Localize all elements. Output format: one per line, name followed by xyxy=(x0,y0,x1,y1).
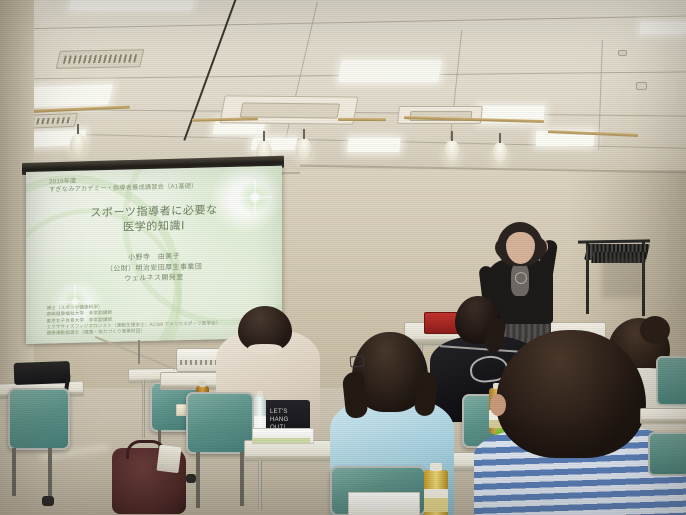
chair-empty-left xyxy=(8,388,70,450)
pendant-spot-lamp xyxy=(444,140,460,162)
slide-title: スポーツ指導者に必要な 医学的知識Ⅰ xyxy=(26,202,282,238)
slide-header: 2019年度 すぎなみアカデミー・指導者養成講習会（A1基礎） xyxy=(49,175,198,195)
coat-rack-shadow xyxy=(602,258,644,298)
smoke-detector-icon xyxy=(636,82,647,90)
chair-back-right xyxy=(656,356,686,406)
ceiling-air-vent xyxy=(56,49,145,68)
seminar-room-photo: 2019年度 すぎなみアカデミー・指導者養成講習会（A1基礎） スポーツ指導者に… xyxy=(0,0,686,515)
bag-paper xyxy=(156,445,181,473)
chair-leg xyxy=(48,448,52,500)
ceiling-light-panel xyxy=(69,0,197,10)
attendee-striped-ear xyxy=(490,394,506,416)
table-leg xyxy=(258,460,262,510)
slide-presenter-block: 小野寺 由美子 （公財）明治安田厚生事業団 ウェルネス開発室 xyxy=(26,250,282,288)
pendant-spot-lamp xyxy=(296,138,312,160)
desk-right-edge xyxy=(640,408,686,424)
tea-bottle-yellow xyxy=(424,470,448,515)
slide-credentials: 博士（スポーツ健康科学） 高崎健康福祉大学 非常勤講師 東京女子体育大学 非常勤… xyxy=(46,301,220,336)
ceiling-ac-unit xyxy=(397,106,483,124)
chair-right-edge xyxy=(648,432,686,476)
eyeglasses-icon xyxy=(350,356,365,368)
necklace xyxy=(515,272,527,284)
rod-support xyxy=(138,340,140,364)
hair-strand xyxy=(342,371,369,419)
ceiling-light-panel xyxy=(338,60,441,82)
lighting-track xyxy=(338,118,386,121)
pendant-spot-lamp xyxy=(70,133,86,155)
chair-caster xyxy=(186,474,196,483)
attendee-beige-collar xyxy=(248,344,282,354)
chair-leg xyxy=(196,452,200,508)
smoke-detector-icon xyxy=(618,50,627,56)
hair-bun xyxy=(640,316,670,344)
ceiling xyxy=(0,0,686,178)
pendant-spot-lamp xyxy=(492,142,508,164)
notebook-green xyxy=(252,438,310,443)
handout-foreground xyxy=(348,492,420,515)
chair-leg xyxy=(12,448,16,496)
table-leg xyxy=(142,380,145,438)
chair-caster xyxy=(42,496,54,506)
black-bag-on-desk xyxy=(14,361,71,385)
ceiling-light-panel xyxy=(347,138,400,152)
ceiling-light-panel xyxy=(640,22,686,34)
